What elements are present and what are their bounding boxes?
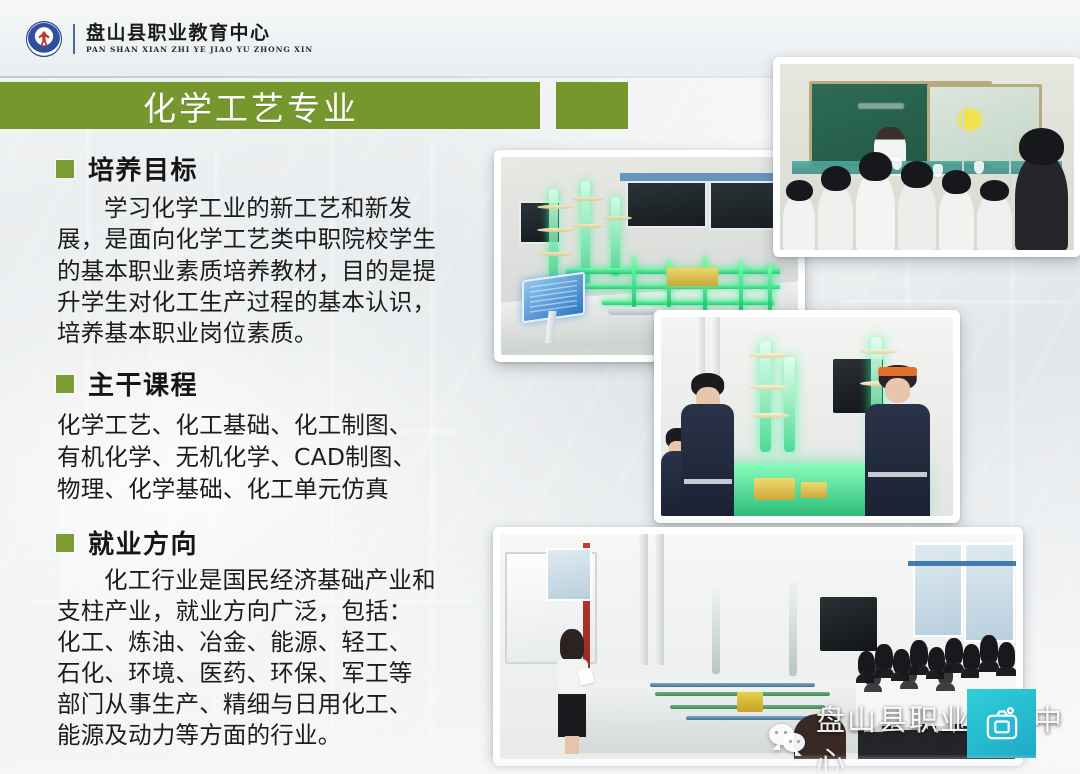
section-body: 学习化学工业的新工艺和新发展，是面向化学工艺类中职院校学生的基本职业素质培养教材…: [0, 187, 470, 349]
instructor-model-photo-scene: [661, 317, 953, 516]
page-title: 化学工艺专业: [143, 82, 359, 130]
section-employment-directions: 就业方向 化工行业是国民经济基础产业和支柱产业，就业方向广泛，包括： 化工、炼油…: [0, 524, 470, 751]
background-pipe: [840, 300, 1070, 308]
title-accent-chip: [556, 82, 628, 129]
section-heading: 就业方向: [88, 524, 198, 561]
school-name-pinyin: PAN SHAN XIAN ZHI YE JIAO YU ZHONG XIN: [86, 45, 313, 54]
bullet-square-icon: [56, 534, 74, 552]
student-foreground: [681, 373, 734, 516]
logo-divider: [73, 24, 75, 54]
section-training-objectives: 培养目标 学习化学工业的新工艺和新发展，是面向化学工艺类中职院校学生的基本职业素…: [0, 150, 470, 349]
school-crest-icon: [26, 21, 62, 57]
page-bottom-edge: [0, 754, 1080, 774]
wechat-icon: [769, 724, 807, 754]
title-band: 化学工艺专业: [0, 82, 540, 129]
section-heading-row: 主干课程: [0, 365, 470, 402]
section-body: 化学工艺、化工基础、化工制图、 有机化学、无机化学、CAD制图、 物理、化学基础…: [0, 402, 470, 506]
section-heading-row: 就业方向: [0, 524, 470, 561]
school-logo: 盘山县职业教育中心 PAN SHAN XIAN ZHI YE JIAO YU Z…: [26, 21, 313, 57]
section-body: 化工行业是国民经济基础产业和支柱产业，就业方向广泛，包括： 化工、炼油、冶金、能…: [0, 561, 470, 751]
slide-canvas: 盘山县职业教育中心 PAN SHAN XIAN ZHI YE JIAO YU Z…: [0, 0, 1080, 774]
instructor-model-photo: [654, 310, 960, 523]
classroom-lecture-photo: [773, 57, 1080, 257]
content-column: 培养目标 学习化学工业的新工艺和新发展，是面向化学工艺类中职院校学生的基本职业素…: [0, 150, 470, 757]
bullet-square-icon: [56, 160, 74, 178]
section-core-courses: 主干课程 化学工艺、化工基础、化工制图、 有机化学、无机化学、CAD制图、 物理…: [0, 365, 470, 506]
classroom-lecture-photo-scene: [780, 64, 1074, 250]
school-name-cn: 盘山县职业教育中心: [86, 24, 313, 44]
bullet-square-icon: [56, 375, 74, 393]
section-heading-row: 培养目标: [0, 150, 470, 187]
section-heading: 培养目标: [88, 150, 198, 187]
section-heading: 主干课程: [88, 365, 198, 402]
lab-teacher: [557, 629, 588, 755]
instructor: [865, 365, 929, 516]
qr-scan-icon: [967, 689, 1036, 758]
